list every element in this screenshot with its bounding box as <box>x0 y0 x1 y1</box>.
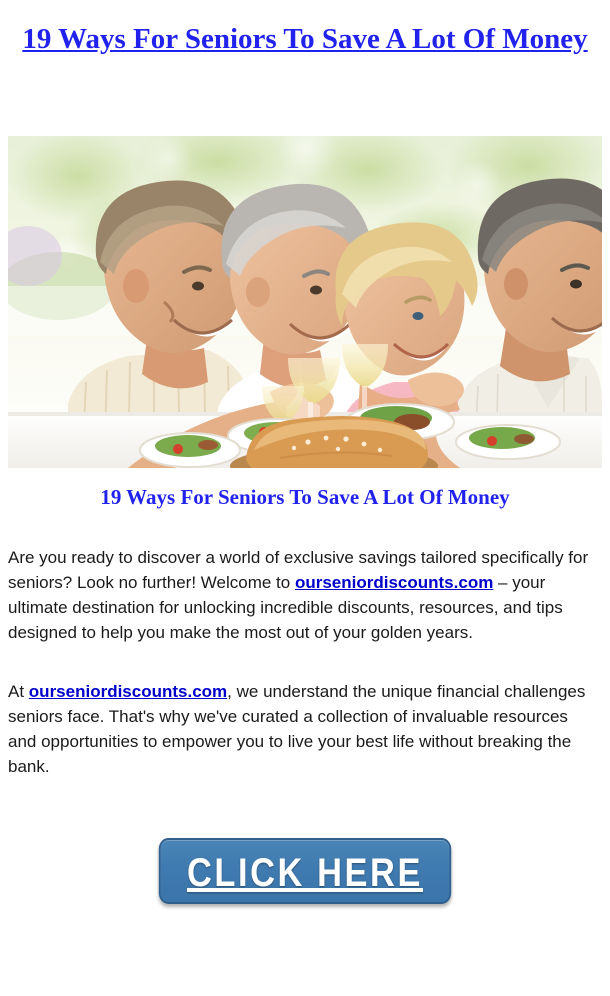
click-here-button[interactable]: CLICK HERE <box>159 838 451 904</box>
sub-headline: 19 Ways For Seniors To Save A Lot Of Mon… <box>18 484 592 510</box>
seniors-toasting-photo <box>8 136 602 468</box>
ourseniordiscounts-link-1[interactable]: ourseniordiscounts.com <box>295 573 493 592</box>
ourseniordiscounts-link-2[interactable]: ourseniordiscounts.com <box>29 682 227 701</box>
cta-container: CLICK HERE <box>0 838 610 904</box>
headline-container: 19 Ways For Seniors To Save A Lot Of Mon… <box>18 20 592 58</box>
paragraph-2-text-1: At <box>8 682 29 701</box>
secondary-paragraph: At ourseniordiscounts.com, we understand… <box>8 679 600 779</box>
intro-paragraph: Are you ready to discover a world of exc… <box>8 545 600 645</box>
advertisement-page: 19 Ways For Seniors To Save A Lot Of Mon… <box>0 0 610 996</box>
headline-link[interactable]: 19 Ways For Seniors To Save A Lot Of Mon… <box>22 23 587 55</box>
